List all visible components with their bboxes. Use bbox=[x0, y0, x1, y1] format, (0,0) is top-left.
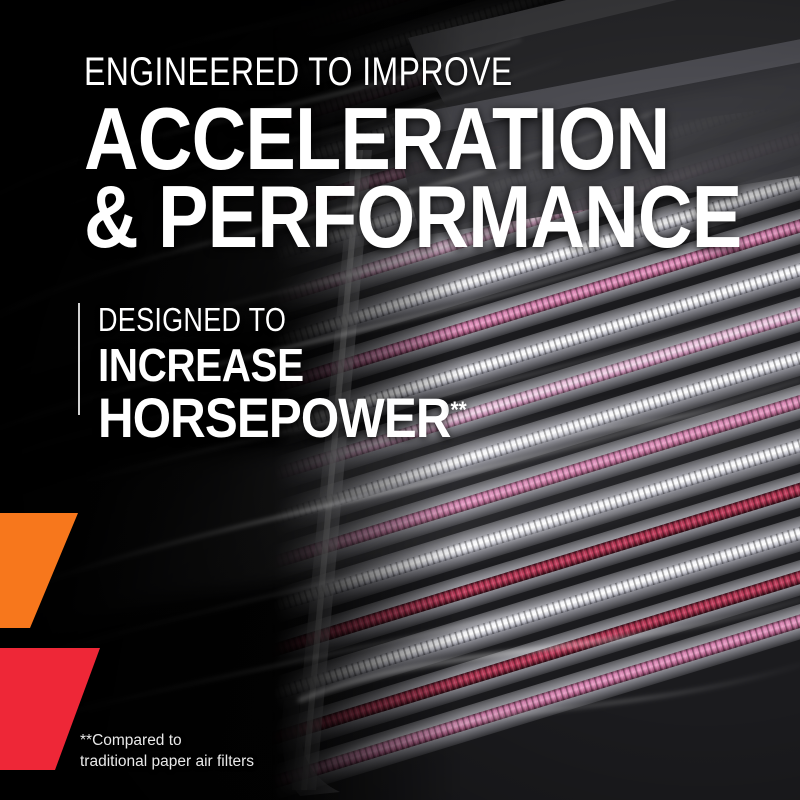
headline-line-2: & PERFORMANCE bbox=[84, 176, 741, 258]
headline-block: ENGINEERED TO IMPROVE ACCELERATION & PER… bbox=[84, 52, 800, 258]
subhead-line-2: HORSEPOWER** bbox=[98, 390, 467, 446]
subhead-kicker: DESIGNED TO bbox=[98, 303, 442, 336]
text-layer: ENGINEERED TO IMPROVE ACCELERATION & PER… bbox=[0, 0, 800, 800]
subhead-line-2-text: HORSEPOWER bbox=[98, 386, 451, 449]
subhead-line-1: INCREASE bbox=[98, 342, 467, 388]
footnote-text: **Compared to traditional paper air filt… bbox=[80, 730, 254, 773]
promo-banner: ENGINEERED TO IMPROVE ACCELERATION & PER… bbox=[0, 0, 800, 800]
footnote-marker: ** bbox=[451, 396, 467, 422]
subhead-block: DESIGNED TO INCREASE HORSEPOWER** bbox=[78, 303, 517, 415]
headline-kicker: ENGINEERED TO IMPROVE bbox=[84, 52, 695, 92]
